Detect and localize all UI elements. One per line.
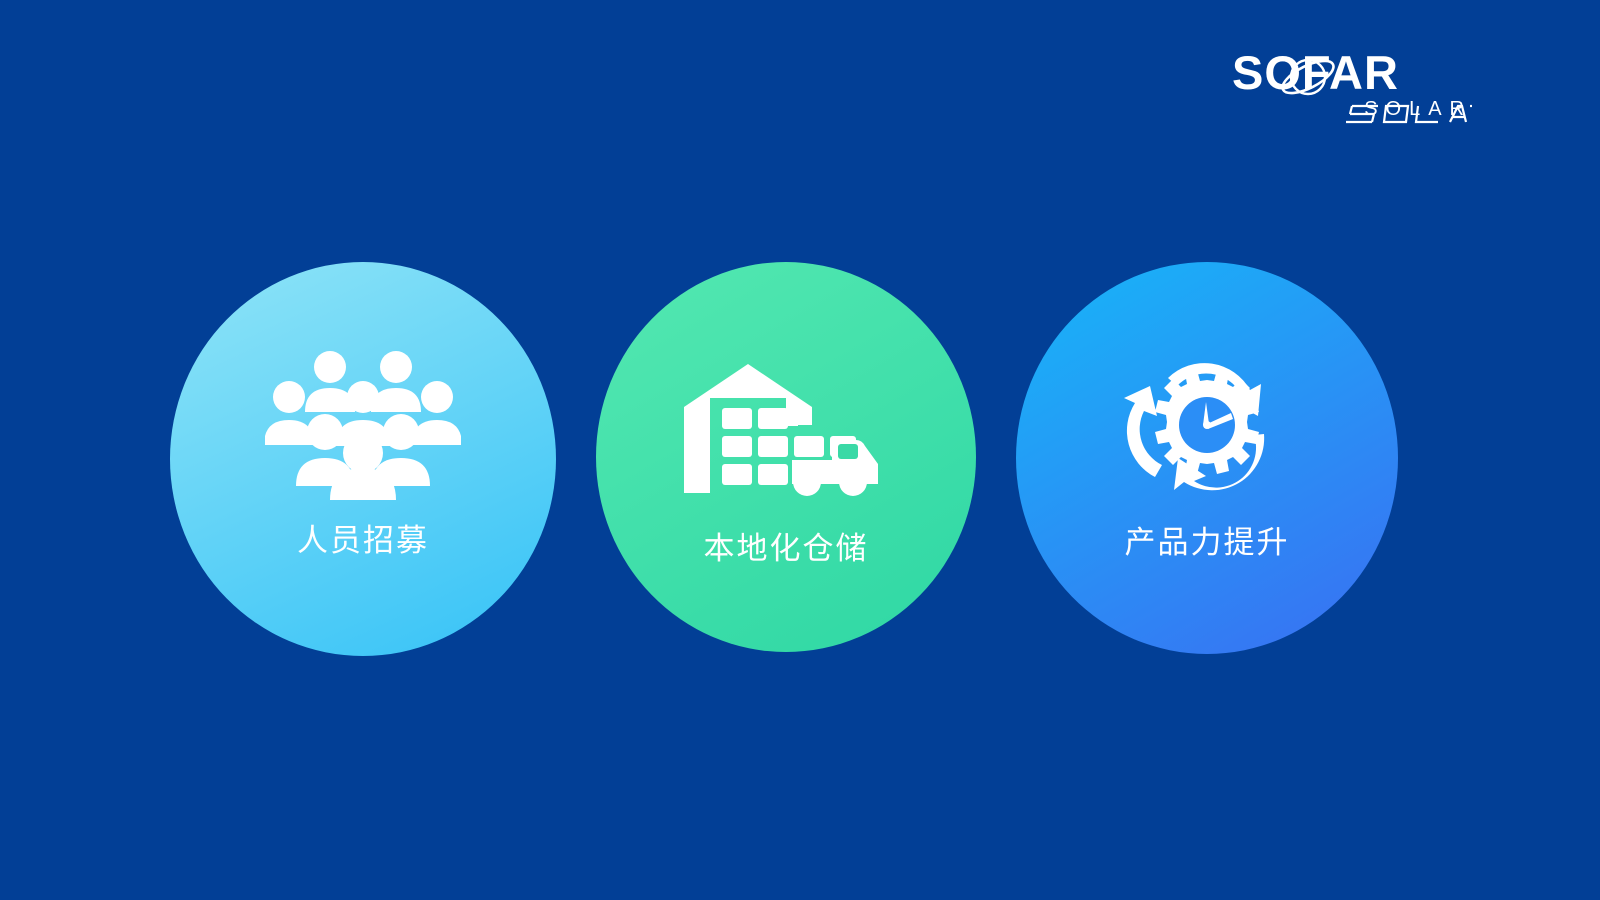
gear-clock-cycle-icon [1016,350,1398,502]
globe-orbit-icon [1278,54,1338,99]
feature-circle-recruitment[interactable]: 人员招募 [170,262,556,656]
feature-circle-warehousing[interactable]: 本地化仓储 [596,262,976,652]
feature-label-warehousing: 本地化仓储 [704,532,869,566]
feature-circles-row: 人员招募 [0,262,1600,662]
warehouse-truck-icon [596,362,976,496]
people-group-icon [170,350,556,500]
slide-canvas: SOLAR [0,0,1600,900]
feature-label-product-capability: 产品力提升 [1125,526,1290,560]
feature-label-recruitment: 人员招募 [297,524,429,558]
brand-logo: SOLAR [1232,48,1472,126]
feature-circle-product-capability[interactable]: 产品力提升 [1016,262,1398,654]
